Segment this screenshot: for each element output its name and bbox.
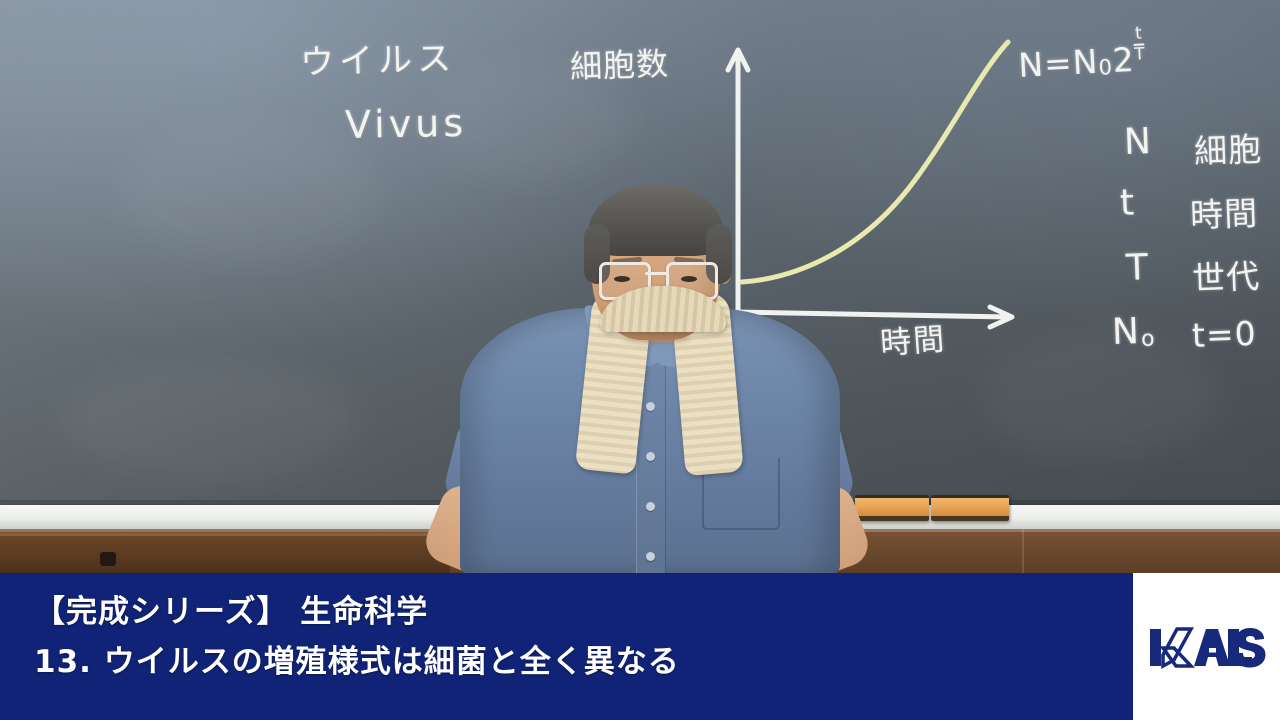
formula-exponent-numerator: t xyxy=(1133,25,1144,43)
presenter-chin-shadow xyxy=(624,332,690,344)
presenter-eye-left xyxy=(614,276,630,282)
blackboard-eraser[interactable] xyxy=(855,495,929,521)
chalk-text-cell-count: 細胞数 xyxy=(569,39,670,88)
kals-logo-box xyxy=(1133,573,1280,720)
chalk-text-virus-kana: ウイルス xyxy=(299,31,456,84)
chalk-legend-meaning-n: 細胞 xyxy=(1193,123,1263,173)
presenter-figure xyxy=(440,190,860,573)
presenter-shirt-button xyxy=(646,502,655,511)
legend-n0-base: N xyxy=(1111,311,1141,353)
desk-knob xyxy=(100,552,116,566)
video-player-screen: ウイルス Vivus 細胞数 N=N02tT 時間 N 細胞 t 時間 T 世代… xyxy=(0,0,1280,720)
chalk-legend-meaning-T-generation: 世代 xyxy=(1191,250,1261,300)
presenter-shirt-button xyxy=(646,552,655,561)
formula-base: 2 xyxy=(1112,40,1136,80)
chalk-legend-meaning-t: 時間 xyxy=(1189,187,1259,237)
formula-exponent-fraction: tT xyxy=(1133,25,1145,63)
chalk-label-x-axis: 時間 xyxy=(878,313,947,362)
kals-logo-icon xyxy=(1148,620,1266,674)
chalk-legend-symbol-n: N xyxy=(1123,121,1153,163)
chalk-text-virus-latin: Vivus xyxy=(345,101,468,147)
chalk-legend-symbol-T-generation: T xyxy=(1125,247,1150,289)
chalk-legend-symbol-t: t xyxy=(1119,182,1137,224)
lectern-desk xyxy=(0,536,450,573)
title-banner-text: 【完成シリーズ】 生命科学 13. ウイルスの増殖様式は細菌と全く異なる xyxy=(34,587,680,687)
legend-n0-subscript: o xyxy=(1141,326,1157,352)
presenter-eye-right xyxy=(681,276,697,282)
presenter-shirt-button xyxy=(646,402,655,411)
blackboard-eraser[interactable] xyxy=(931,495,1009,521)
presenter-shirt-button xyxy=(646,452,655,461)
wooden-panel-seam xyxy=(1022,529,1024,573)
glasses-bridge xyxy=(645,272,669,275)
banner-lesson-title: 13. ウイルスの増殖様式は細菌と全く異なる xyxy=(34,637,680,687)
title-banner: 【完成シリーズ】 生命科学 13. ウイルスの増殖様式は細菌と全く異なる xyxy=(0,573,1280,720)
lecture-video-frame[interactable]: ウイルス Vivus 細胞数 N=N02tT 時間 N 細胞 t 時間 T 世代… xyxy=(0,0,1280,573)
banner-series-title: 【完成シリーズ】 生命科学 xyxy=(34,587,680,637)
chalk-legend-symbol-n0: No xyxy=(1111,310,1157,353)
chalk-legend-meaning-n0: t=0 xyxy=(1191,314,1257,355)
formula-exponent-denominator: T xyxy=(1134,46,1145,64)
